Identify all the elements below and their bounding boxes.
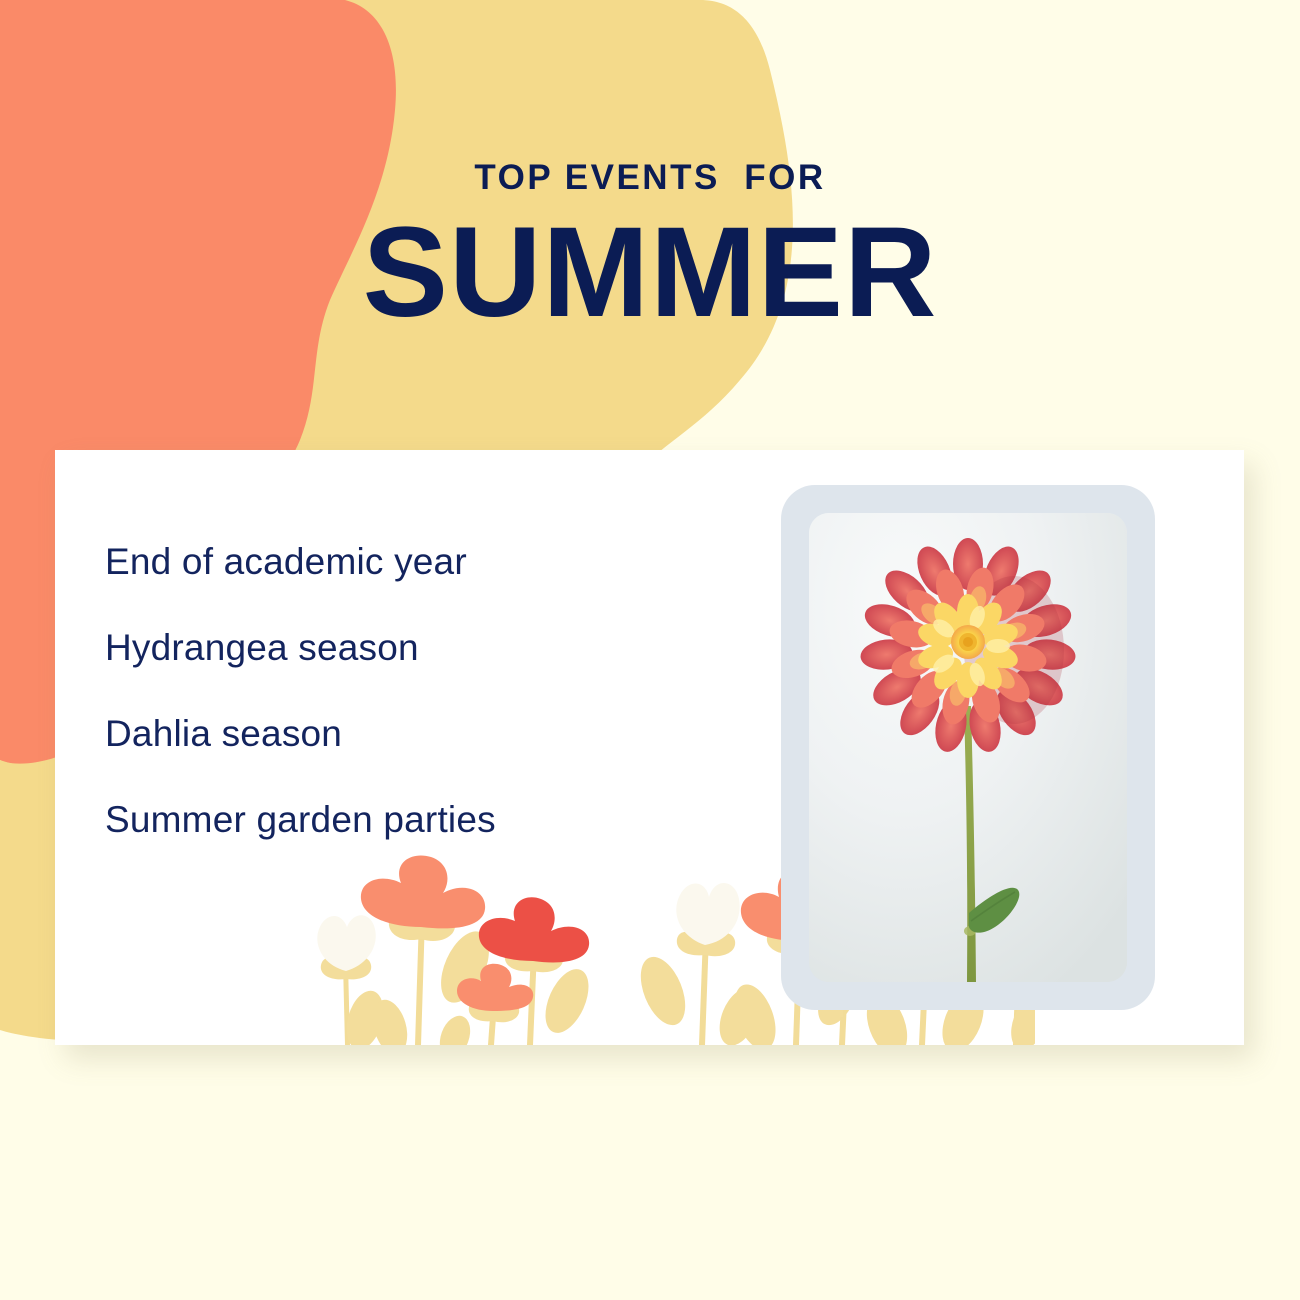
poster-heading: TOP EVENTS FOR SUMMER xyxy=(0,160,1300,333)
poster-canvas: TOP EVENTS FOR SUMMER End of academic ye… xyxy=(0,0,1300,1300)
photo-inner xyxy=(809,513,1127,982)
eyebrow-text: TOP EVENTS FOR xyxy=(0,160,1300,195)
photo-frame xyxy=(781,485,1155,1010)
list-item: Hydrangea season xyxy=(105,629,745,666)
content-card: End of academic year Hydrangea season Da… xyxy=(55,450,1244,1045)
list-item: End of academic year xyxy=(105,543,745,580)
page-title: SUMMER xyxy=(0,213,1300,333)
dahlia-photo xyxy=(809,513,1127,982)
list-item: Dahlia season xyxy=(105,715,745,752)
event-list: End of academic year Hydrangea season Da… xyxy=(105,543,745,838)
list-item: Summer garden parties xyxy=(105,801,745,838)
